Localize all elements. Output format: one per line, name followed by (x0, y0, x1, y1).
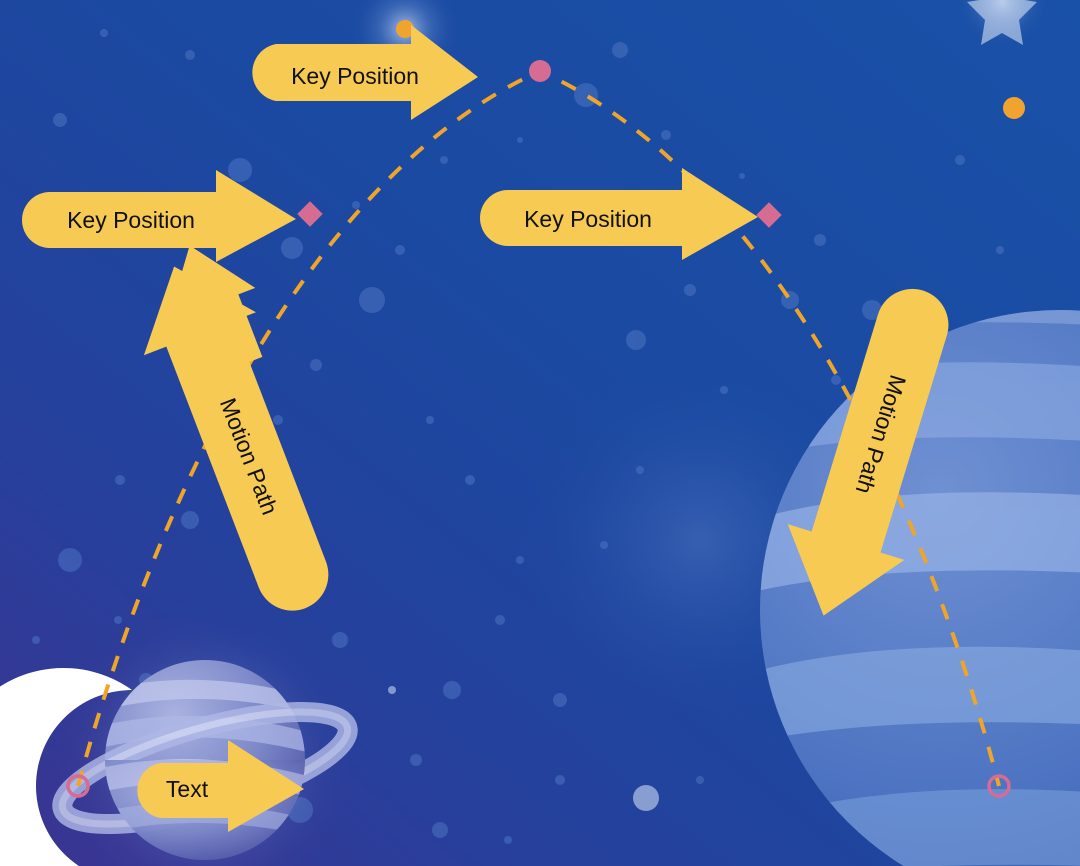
glow-speck-right (1003, 97, 1025, 119)
space-diagram-canvas: Key Position Key Position Key Position M… (0, 0, 1080, 866)
background-layer (0, 0, 1080, 866)
